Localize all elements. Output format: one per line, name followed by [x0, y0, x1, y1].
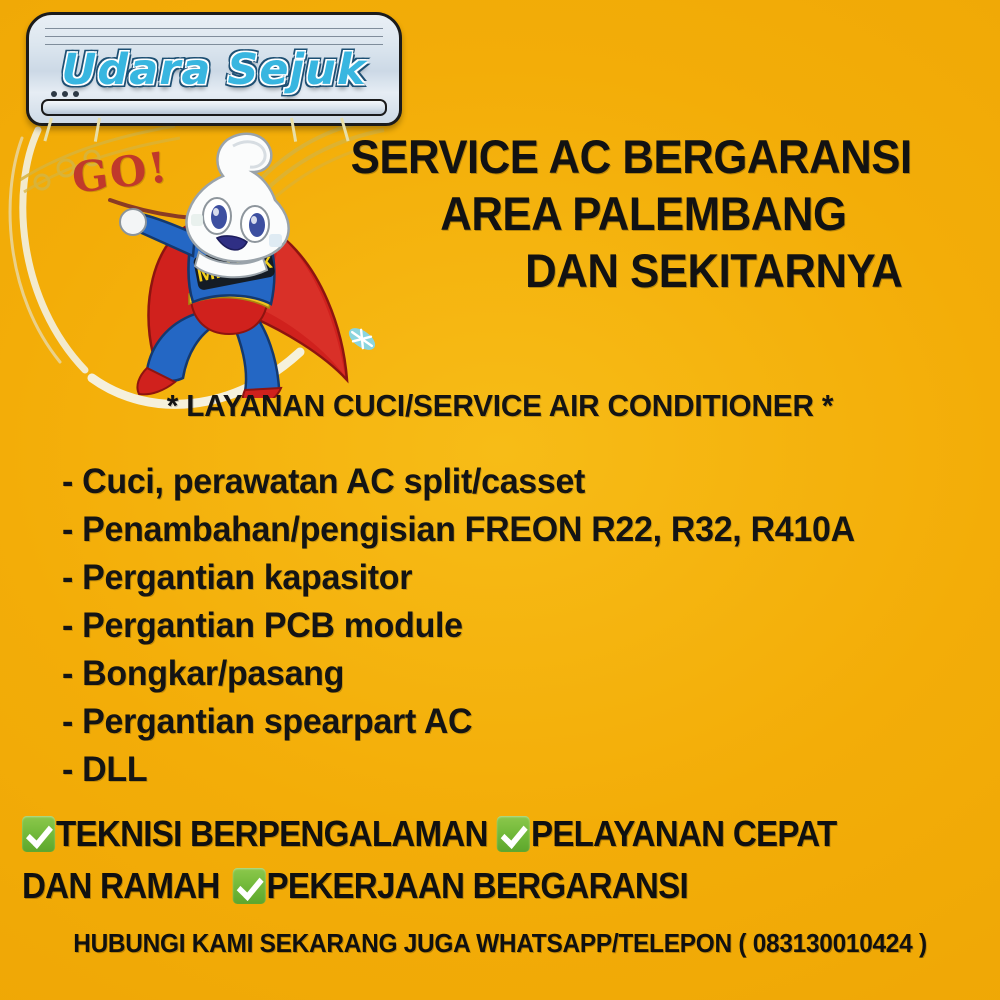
list-item: - Cuci, perawatan AC split/casset [62, 458, 954, 506]
list-item: - Pergantian PCB module [62, 602, 954, 650]
list-item: - Pergantian kapasitor [62, 554, 954, 602]
ac-air-outlet [41, 99, 387, 116]
benefits-row-1: TEKNISI BERPENGALAMANPELAYANAN CEPAT [22, 808, 905, 860]
ac-indicator-dots [51, 91, 79, 97]
benefit-label-3: DAN RAMAH [22, 865, 220, 906]
list-item: - Pergantian spearpart AC [62, 698, 954, 746]
service-list: - Cuci, perawatan AC split/casset - Pena… [62, 458, 982, 794]
benefit-label-2: PELAYANAN CEPAT [531, 813, 837, 854]
subtitle: * LAYANAN CUCI/SERVICE AIR CONDITIONER * [20, 388, 980, 424]
headline-line-1: SERVICE AC BERGARANSI [346, 128, 960, 185]
page-title: SERVICE AC BERGARANSI AREA PALEMBANG DAN… [346, 128, 960, 299]
list-item: - Penambahan/pengisian FREON R22, R32, R… [62, 506, 954, 554]
benefit-label-1: TEKNISI BERPENGALAMAN [56, 813, 488, 854]
headline-line-2: AREA PALEMBANG [346, 185, 960, 242]
brand-name: Udara Sejuk [29, 45, 399, 95]
benefit-label-4: PEKERJAAN BERGARANSI [267, 865, 688, 906]
check-icon [232, 868, 265, 904]
benefits-row-2: DAN RAMAHPEKERJAAN BERGARANSI [22, 860, 905, 912]
headline-line-3: DAN SEKITARNYA [346, 242, 960, 299]
advertisement-poster: Udara Sejuk GO! Mr.Ujuk [0, 0, 1000, 1000]
check-icon [22, 816, 55, 852]
ac-unit-logo: Udara Sejuk [26, 12, 402, 126]
mascot-mr-ujuk: Mr.Ujuk [95, 118, 365, 398]
list-item: - Bongkar/pasang [62, 650, 954, 698]
list-item: - DLL [62, 746, 954, 794]
contact-footer: HUBUNGI KAMI SEKARANG JUGA WHATSAPP/TELE… [30, 928, 970, 959]
check-icon [497, 816, 530, 852]
benefits-section: TEKNISI BERPENGALAMANPELAYANAN CEPAT DAN… [22, 808, 905, 912]
